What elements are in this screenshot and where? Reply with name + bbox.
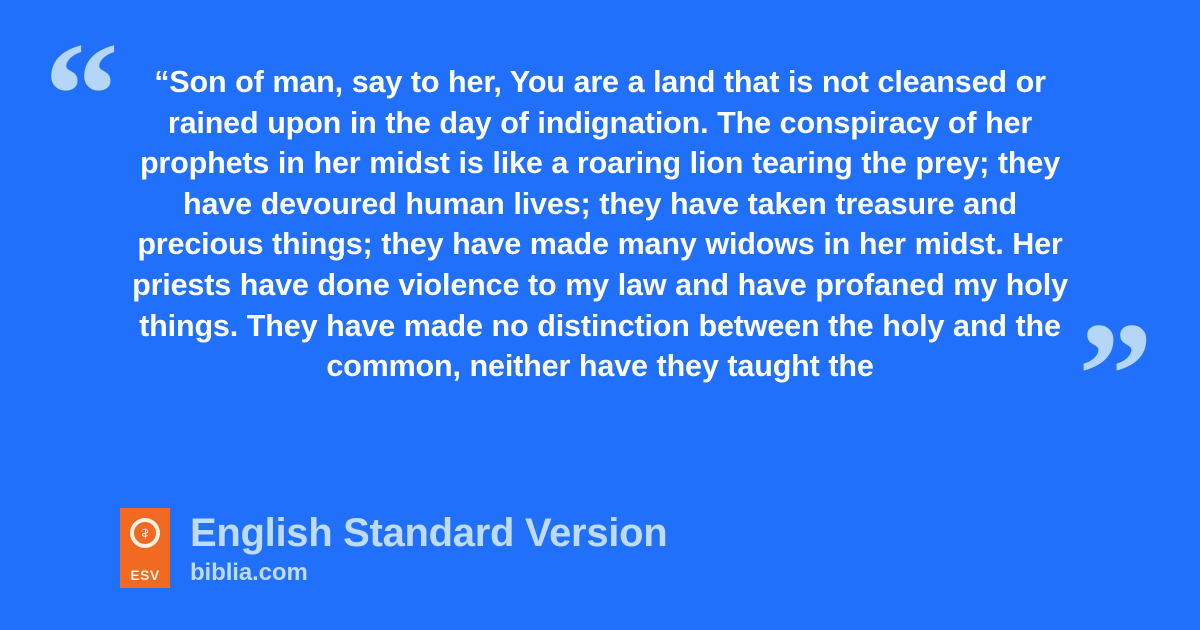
site-url-label[interactable]: biblia.com	[190, 558, 667, 588]
esv-seal-monogram-icon	[130, 518, 160, 548]
esv-logo-badge: ESV	[120, 508, 170, 588]
closing-quote-mark-icon: ”	[1078, 300, 1151, 450]
esv-abbreviation-label: ESV	[130, 568, 159, 582]
quote-container: “Son of man, say to her, You are a land …	[0, 62, 1200, 387]
attribution-text-group: English Standard Version biblia.com	[190, 508, 667, 588]
verse-quote-card: “ “Son of man, say to her, You are a lan…	[0, 0, 1200, 630]
bible-version-name: English Standard Version	[190, 509, 667, 557]
attribution-footer: ESV English Standard Version biblia.com	[120, 508, 667, 588]
quote-text: “Son of man, say to her, You are a land …	[120, 62, 1080, 387]
